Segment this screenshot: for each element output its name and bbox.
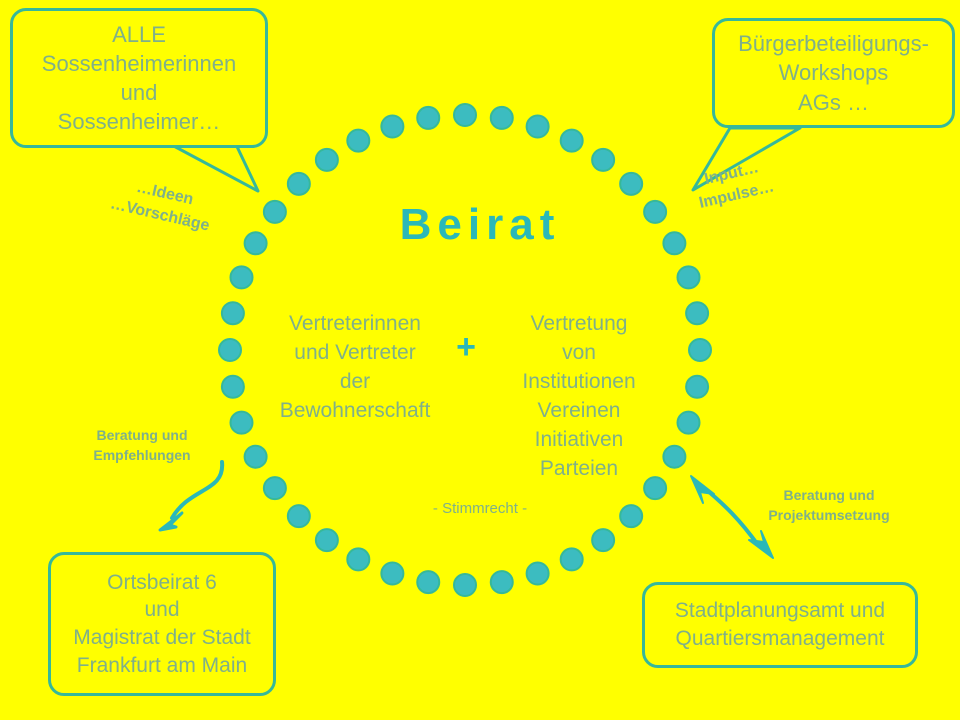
speech-bubble-citizens-text: ALLE Sossenheimerinnen und Sossenheimer… [32,16,246,140]
circle-dot [231,266,253,288]
circle-dot [491,107,513,129]
diagram-canvas: ALLE Sossenheimerinnen und Sossenheimer…… [0,0,960,720]
circle-dot [454,574,476,596]
circle-dot [347,548,369,570]
circle-dot [678,412,700,434]
circle-dot [264,477,286,499]
circle-dot [288,173,310,195]
circle-dot [620,173,642,195]
box-ortsbeirat-magistrat[interactable]: Ortsbeirat 6 und Magistrat der Stadt Fra… [48,552,276,696]
circle-dot [686,302,708,324]
arrow-right-head-down [749,531,773,558]
circle-dot [219,339,241,361]
circle-dot [454,104,476,126]
circle-dot [417,571,439,593]
box-stadtplanungsamt-quartiersmanagement[interactable]: Stadtplanungsamt und Quartiersmanagement [642,582,918,668]
circle-dot [222,376,244,398]
circle-dot [686,376,708,398]
circle-dot [231,412,253,434]
circle-dot [527,116,549,138]
circle-dot [316,149,338,171]
council-members-institutions: Vertretung von Institutionen Vereinen In… [486,310,672,484]
speech-bubble-workshops[interactable]: Bürgerbeteiligungs- Workshops AGs … [712,18,955,128]
page-title: Beirat [0,200,960,250]
box-ortsbeirat-magistrat-text: Ortsbeirat 6 und Magistrat der Stadt Fra… [63,565,260,684]
speech-bubble-citizens[interactable]: ALLE Sossenheimerinnen und Sossenheimer… [10,8,268,148]
circle-dot [381,563,403,585]
speech-bubble-workshops-text: Bürgerbeteiligungs- Workshops AGs … [728,25,939,120]
circle-dot [222,302,244,324]
circle-dot [527,563,549,585]
annotation-beratung-empfehlungen: Beratung und Empfehlungen [72,425,212,466]
council-members-residents: Vertreterinnen und Vertreter der Bewohne… [262,310,448,426]
plus-icon: + [448,328,484,367]
annotation-beratung-projektumsetzung: Beratung und Projektumsetzung [744,485,914,526]
circle-dot [678,266,700,288]
circle-dot [689,339,711,361]
circle-dot [316,529,338,551]
circle-dot [347,130,369,152]
circle-dot [592,529,614,551]
circle-dot [381,116,403,138]
box-stadtplanungsamt-quartiersmanagement-text: Stadtplanungsamt und Quartiersmanagement [665,593,895,656]
arrow-right-head-up [691,476,714,503]
circle-dot [417,107,439,129]
circle-dot [561,548,583,570]
circle-dot [592,149,614,171]
circle-dot [561,130,583,152]
circle-dot [491,571,513,593]
circle-dot [245,446,267,468]
